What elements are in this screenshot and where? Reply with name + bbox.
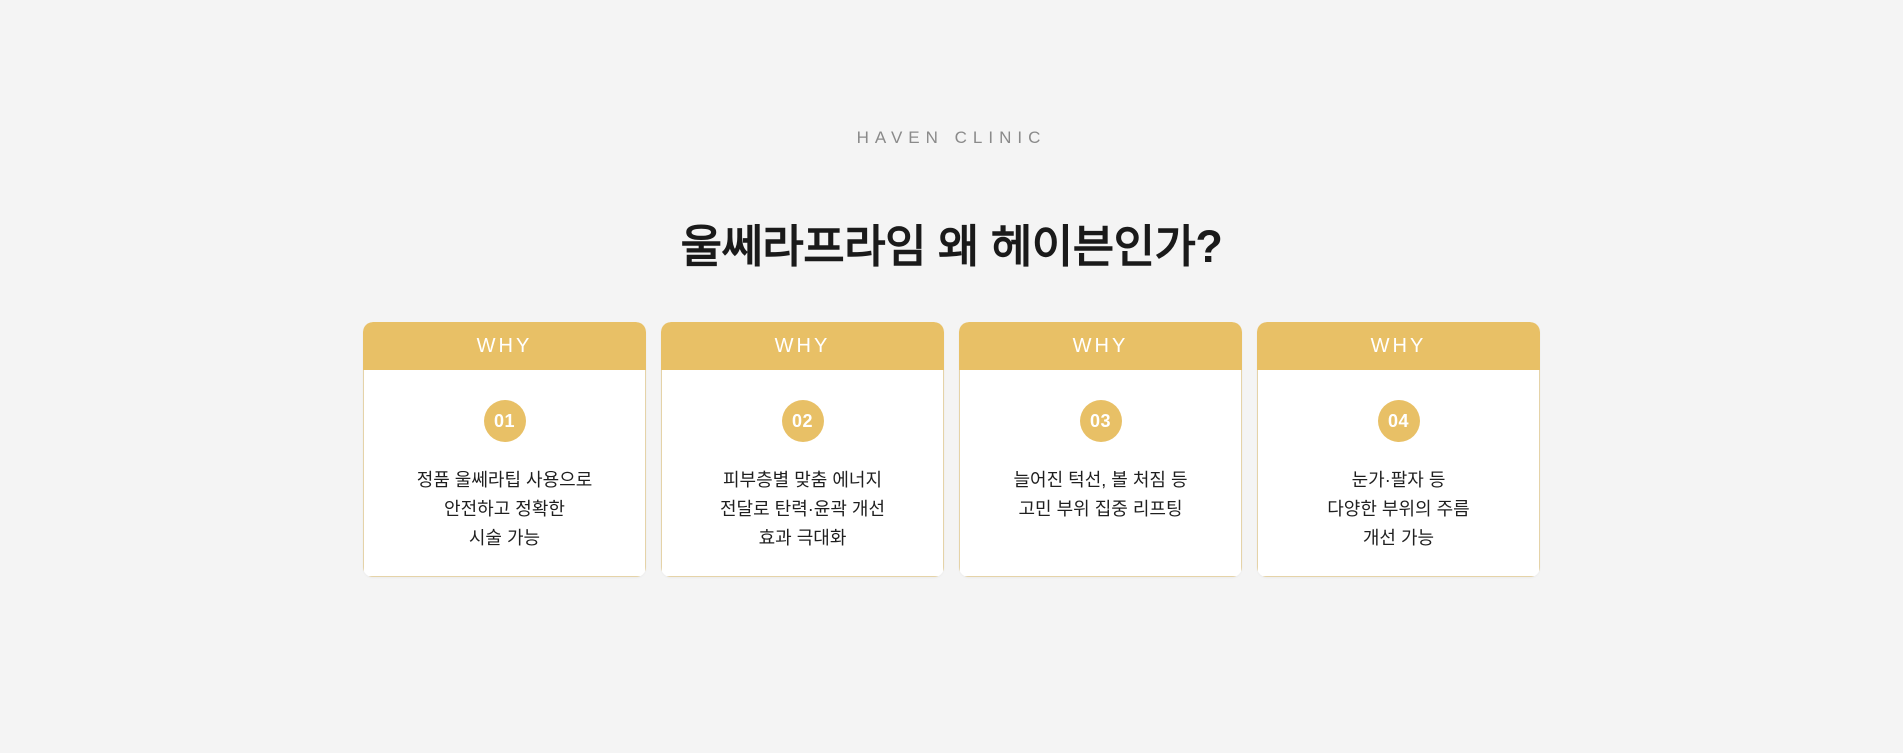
why-card-02-text: 피부층별 맞춤 에너지 전달로 탄력·윤곽 개선 효과 극대화 (710, 466, 895, 553)
why-card-01: WHY 01 정품 울쎄라팁 사용으로 안전하고 정확한 시술 가능 (363, 322, 646, 577)
why-card-01-number-badge: 01 (484, 400, 526, 442)
why-card-03-number-badge: 03 (1080, 400, 1122, 442)
why-card-list: WHY 01 정품 울쎄라팁 사용으로 안전하고 정확한 시술 가능 WHY 0… (0, 322, 1903, 577)
why-card-04-number-badge: 04 (1378, 400, 1420, 442)
why-label: WHY (1371, 335, 1427, 358)
why-card-02-number-badge: 02 (782, 400, 824, 442)
eyebrow-text: HAVEN CLINIC (0, 128, 1903, 148)
why-card-01-body: 01 정품 울쎄라팁 사용으로 안전하고 정확한 시술 가능 (363, 370, 646, 577)
why-card-02-body: 02 피부층별 맞춤 에너지 전달로 탄력·윤곽 개선 효과 극대화 (661, 370, 944, 577)
why-card-03-header: WHY (959, 322, 1242, 370)
why-card-03-body: 03 늘어진 턱선, 볼 처짐 등 고민 부위 집중 리프팅 (959, 370, 1242, 577)
page-title: 울쎄라프라임 왜 헤이븐인가? (0, 210, 1903, 275)
why-card-02-header: WHY (661, 322, 944, 370)
why-card-04-text: 눈가·팔자 등 다양한 부위의 주름 개선 가능 (1317, 466, 1479, 553)
why-card-04: WHY 04 눈가·팔자 등 다양한 부위의 주름 개선 가능 (1257, 322, 1540, 577)
why-label: WHY (1073, 335, 1129, 358)
why-card-01-header: WHY (363, 322, 646, 370)
why-label: WHY (775, 335, 831, 358)
why-card-04-body: 04 눈가·팔자 등 다양한 부위의 주름 개선 가능 (1257, 370, 1540, 577)
why-card-02: WHY 02 피부층별 맞춤 에너지 전달로 탄력·윤곽 개선 효과 극대화 (661, 322, 944, 577)
why-card-01-text: 정품 울쎄라팁 사용으로 안전하고 정확한 시술 가능 (407, 466, 603, 553)
page-container: HAVEN CLINIC 울쎄라프라임 왜 헤이븐인가? WHY 01 정품 울… (0, 0, 1903, 753)
why-card-03: WHY 03 늘어진 턱선, 볼 처짐 등 고민 부위 집중 리프팅 (959, 322, 1242, 577)
why-label: WHY (477, 335, 533, 358)
why-card-04-header: WHY (1257, 322, 1540, 370)
why-card-03-text: 늘어진 턱선, 볼 처짐 등 고민 부위 집중 리프팅 (1003, 466, 1197, 524)
